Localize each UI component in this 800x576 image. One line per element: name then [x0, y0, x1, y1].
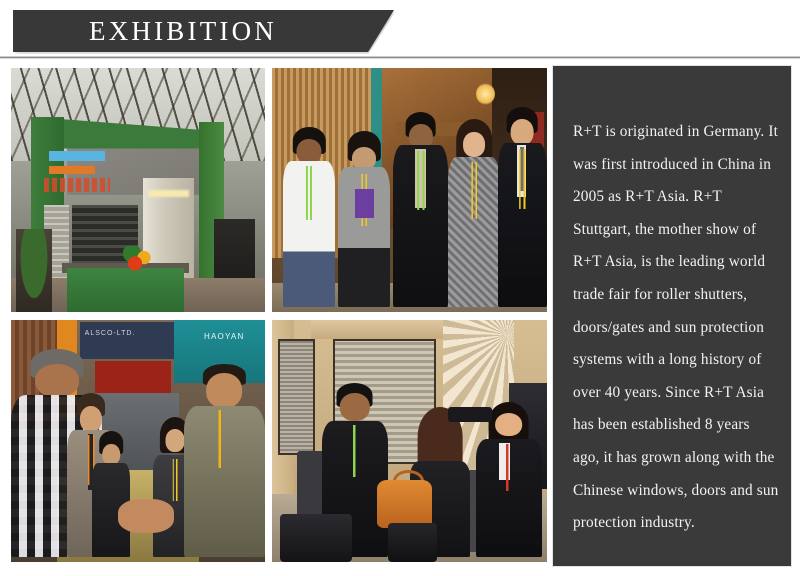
description-text: R+T is originated in Germany. It was fir… [573, 116, 779, 540]
exhibition-banner: EXHIBITION [13, 10, 394, 52]
photo-group-portrait-image [272, 68, 547, 312]
photo-booth-meeting[interactable] [272, 320, 547, 562]
booth-logo-blue-bar [49, 151, 105, 161]
flower-arrangement [123, 246, 153, 275]
person-hostess [476, 402, 542, 557]
ceiling-lamp [476, 83, 495, 105]
photo-group-portrait[interactable] [272, 68, 547, 312]
photo-booth-meeting-image [272, 320, 547, 562]
booth-logo-orange-bar [49, 166, 95, 175]
photo-handshake[interactable]: ALSCO-LTD. HAOYAN [11, 320, 265, 562]
potted-plant [16, 229, 52, 312]
header-divider [0, 56, 800, 59]
person-right-jacket [184, 364, 265, 558]
description-panel: R+T is originated in Germany. It was fir… [553, 66, 791, 566]
booth-chinese-signage [44, 178, 110, 193]
person-background [92, 431, 130, 557]
person-5 [498, 107, 548, 307]
luggage-left [280, 514, 352, 562]
person-2 [338, 131, 390, 307]
extended-arm [448, 407, 492, 422]
window-blind-left [278, 339, 315, 454]
orange-bag [377, 480, 432, 528]
photo-exhibition-booth[interactable] [11, 68, 265, 312]
handshake [118, 499, 174, 533]
booth-sign-haoyan: HAOYAN [204, 332, 260, 351]
person-4 [448, 119, 500, 307]
person-3 [393, 112, 448, 307]
person-1 [283, 127, 335, 308]
page-header: EXHIBITION [0, 0, 800, 58]
photo-exhibition-booth-image [11, 68, 265, 312]
luggage-center [388, 523, 438, 562]
page-title: EXHIBITION [13, 10, 353, 52]
booth-sign-alsco: ALSCO-LTD. [85, 330, 166, 349]
photo-handshake-image: ALSCO-LTD. HAOYAN [11, 320, 265, 562]
